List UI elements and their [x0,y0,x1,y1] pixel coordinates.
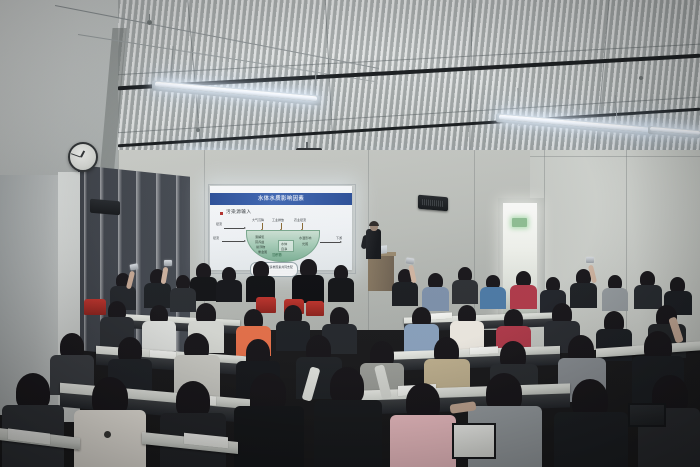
audience-torso [276,321,310,351]
audience-torso [314,400,382,467]
audience [0,255,700,467]
smartphone[interactable] [164,260,172,266]
audience-torso [142,321,176,351]
presenter-hair [369,221,379,226]
slide-outflow-arrow [320,242,340,243]
wall-clock [68,142,98,172]
sprinkler-head-3 [196,128,200,132]
audience-torso [234,406,304,467]
slide-bullet-label: 污染源输入 [226,209,251,215]
audience-torso [216,280,242,302]
slide-inflow-arrow [262,223,263,229]
lecture-hall-photograph: 水体水质影响因素 污染源输入 大气沉降 工业排放 农业径流 径流 径流 溶解氧 … [0,0,700,467]
slide-left-arrow [222,241,244,242]
slide-inflow-arrow [281,223,282,229]
sprinkler-head-2 [639,76,643,80]
audience-torso [74,410,146,467]
note-paper [430,312,452,319]
slide-left-label: 径流 [216,222,222,226]
audience-torso [328,278,354,302]
audience-torso [170,288,196,312]
slide-bullet-marker-icon [220,212,223,215]
slide-inflow-label: 农业径流 [294,218,306,222]
exit-sign-icon [512,218,527,227]
audience-torso [390,415,456,467]
slide-left-arrow [224,228,244,229]
slide-basin-row: 重金属 [258,249,267,254]
audience-torso [452,280,478,304]
smartphone[interactable] [586,257,594,263]
audience-torso [392,282,418,306]
slide-basin-right-label: 水温影响 [299,235,311,240]
auditorium-chair[interactable] [84,299,106,315]
slide-title: 水体水质影响因素 [210,193,352,205]
audience-torso [510,285,537,309]
note-paper [470,346,498,354]
slide-basin-right-label: 光照 [302,241,308,246]
laptop-screen[interactable] [628,403,666,427]
audience-torso [570,283,597,308]
wall-speaker-left [90,199,120,216]
audience-torso [634,285,662,309]
slide-left-label-secondary: 径流 [213,236,219,240]
sprinkler-stem-1 [149,14,150,21]
slide-outflow-label: 下游 [336,236,342,240]
slide-inflow-label: 大气沉降 [252,218,264,222]
slide-title-bar: 水体水质影响因素 [210,193,352,205]
smartphone[interactable] [406,257,415,264]
auditorium-chair[interactable] [306,301,324,316]
slide-basin-center-label: 自净 [281,246,287,251]
slide-inflow-arrow [302,223,303,229]
laptop-screen[interactable] [452,423,496,459]
audience-torso [554,412,628,467]
coat-button-icon [104,431,111,438]
audience-torso [480,287,506,309]
audience-torso [602,288,628,311]
audience-raised-arm [161,267,169,285]
slide-inflow-label: 工业排放 [272,218,284,222]
smartphone[interactable] [130,263,139,270]
